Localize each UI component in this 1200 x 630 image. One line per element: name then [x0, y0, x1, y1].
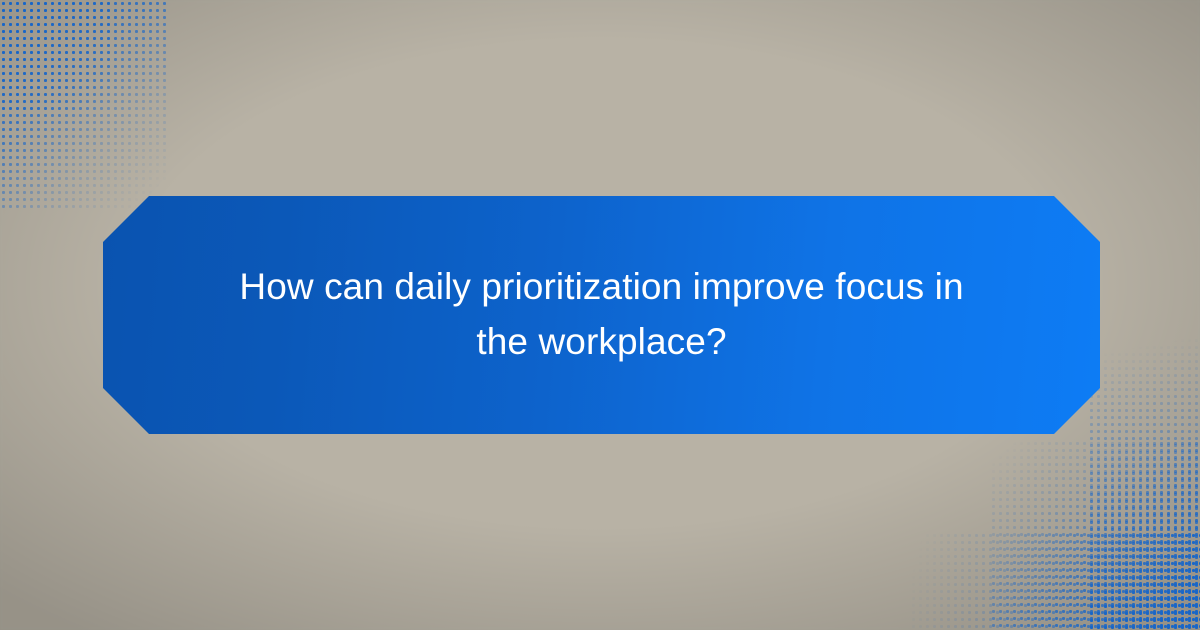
question-card: How can daily prioritization improve foc…: [0, 0, 1200, 630]
question-banner: How can daily prioritization improve foc…: [103, 196, 1100, 434]
question-title: How can daily prioritization improve foc…: [223, 260, 980, 370]
